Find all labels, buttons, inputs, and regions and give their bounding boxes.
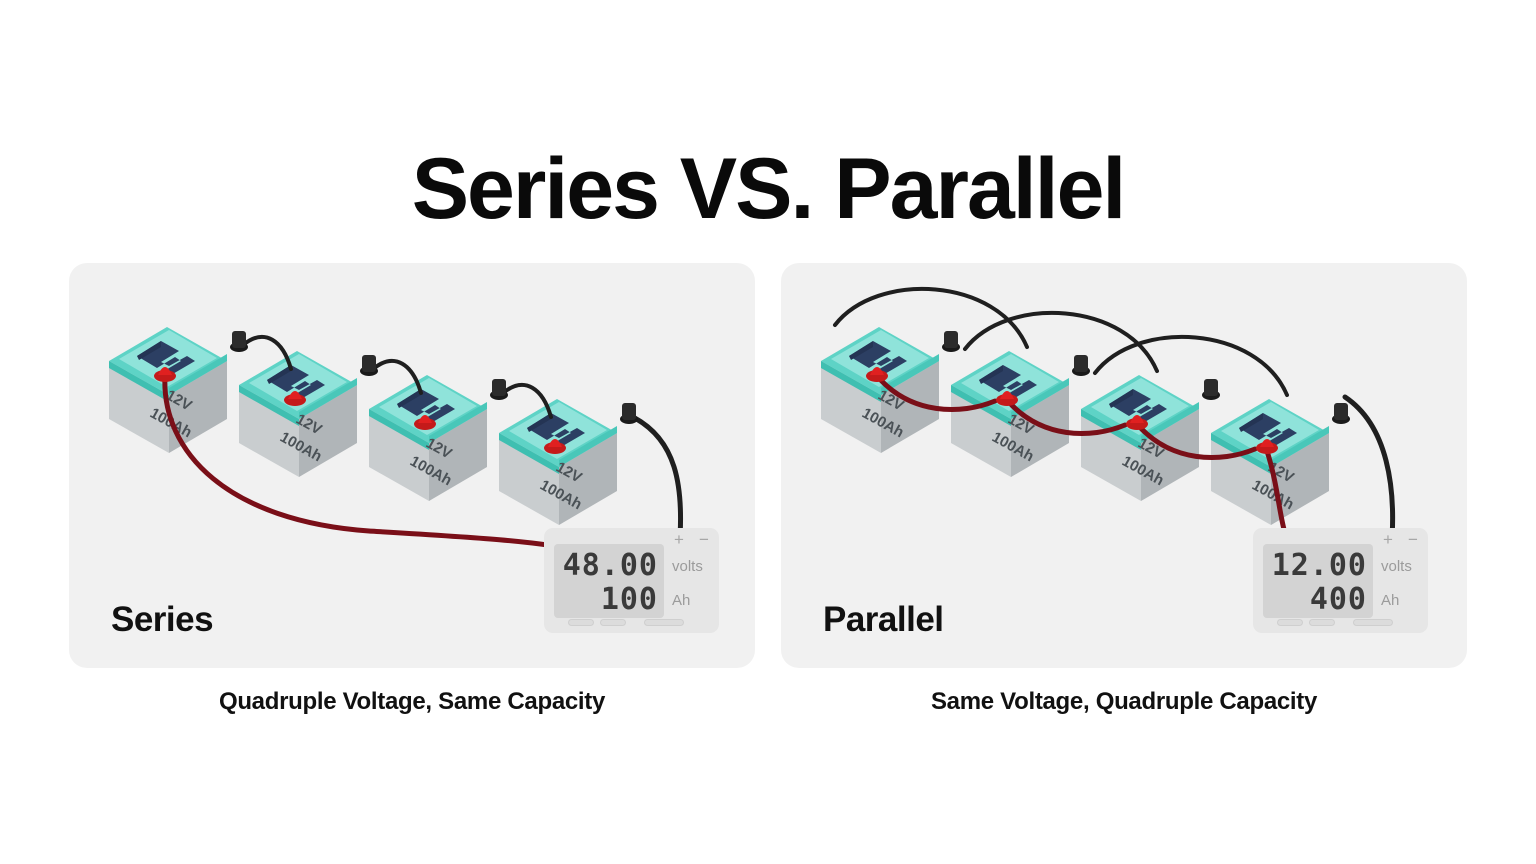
meter-button-2[interactable] bbox=[1309, 619, 1335, 626]
meter-screen: 48.00 100 bbox=[554, 544, 664, 618]
caption-parallel: Same Voltage, Quadruple Capacity bbox=[781, 688, 1467, 716]
meter-button-3[interactable] bbox=[1353, 619, 1393, 626]
infographic-canvas: Series VS. Parallel bbox=[0, 0, 1536, 864]
meter-terminal-positive-label: + bbox=[1383, 530, 1393, 550]
terminal-negative-icon bbox=[1202, 379, 1220, 400]
terminal-negative-icon bbox=[230, 331, 248, 352]
meter-button-2[interactable] bbox=[600, 619, 626, 626]
meter-button-1[interactable] bbox=[568, 619, 594, 626]
panel-parallel: 12V 100Ah 12V 100Ah 12V 100Ah 12V 100Ah bbox=[781, 263, 1467, 668]
meter-volts-unit: volts bbox=[1381, 558, 1412, 575]
page-title: Series VS. Parallel bbox=[0, 146, 1536, 232]
battery-monitor-meter[interactable]: 12.00 400 + − volts Ah bbox=[1253, 528, 1428, 633]
panel-series: 12V 100Ah 12V 100Ah 12V 100Ah 12V 100Ah bbox=[69, 263, 755, 668]
meter-button-3[interactable] bbox=[644, 619, 684, 626]
terminal-negative-icon bbox=[1332, 403, 1350, 424]
meter-screen: 12.00 400 bbox=[1263, 544, 1373, 618]
terminal-negative-icon bbox=[360, 355, 378, 376]
meter-amphour-unit: Ah bbox=[672, 592, 690, 609]
panel-label-series: Series bbox=[111, 600, 213, 640]
caption-series: Quadruple Voltage, Same Capacity bbox=[69, 688, 755, 716]
terminal-negative-icon bbox=[1072, 355, 1090, 376]
meter-volts-unit: volts bbox=[672, 558, 703, 575]
battery-monitor-meter[interactable]: 48.00 100 + − volts Ah bbox=[544, 528, 719, 633]
meter-voltage-readout: 48.00 bbox=[563, 548, 658, 583]
meter-terminal-negative-label: − bbox=[699, 530, 709, 550]
meter-amphour-readout: 100 bbox=[601, 582, 658, 617]
meter-terminal-positive-label: + bbox=[674, 530, 684, 550]
meter-amphour-unit: Ah bbox=[1381, 592, 1399, 609]
panel-label-parallel: Parallel bbox=[823, 600, 944, 640]
terminal-negative-icon bbox=[942, 331, 960, 352]
terminal-negative-icon bbox=[490, 379, 508, 400]
meter-voltage-readout: 12.00 bbox=[1272, 548, 1367, 583]
meter-button-1[interactable] bbox=[1277, 619, 1303, 626]
meter-amphour-readout: 400 bbox=[1310, 582, 1367, 617]
meter-terminal-negative-label: − bbox=[1408, 530, 1418, 550]
terminal-negative-icon bbox=[620, 403, 638, 424]
